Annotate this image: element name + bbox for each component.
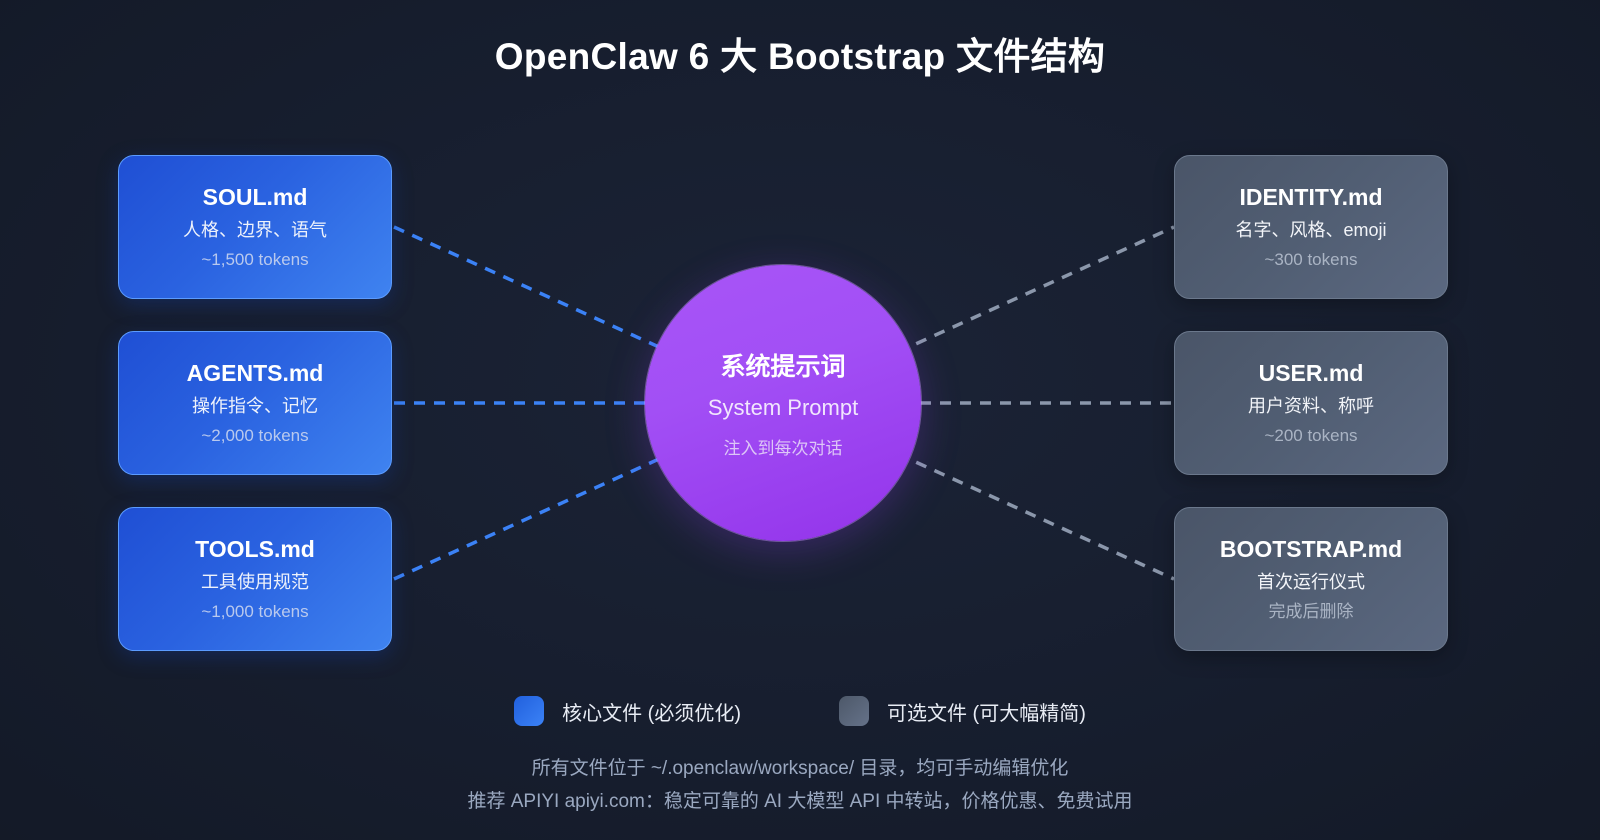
link-tools-to-hub [394, 454, 670, 579]
card-token-count: ~1,000 tokens [201, 601, 308, 623]
card-soul-md[interactable]: SOUL.md 人格、边界、语气 ~1,500 tokens [118, 155, 392, 299]
card-agents-md[interactable]: AGENTS.md 操作指令、记忆 ~2,000 tokens [118, 331, 392, 475]
legend-swatch-optional-icon [839, 696, 869, 726]
hub-note: 注入到每次对话 [724, 434, 843, 459]
link-hub-to-bootstrap [898, 454, 1174, 579]
card-token-count: ~1,500 tokens [201, 249, 308, 271]
legend-label: 核心文件 (必须优化) [562, 697, 741, 726]
card-description: 工具使用规范 [201, 571, 309, 594]
link-hub-to-identity [898, 227, 1174, 352]
card-tools-md[interactable]: TOOLS.md 工具使用规范 ~1,000 tokens [118, 507, 392, 651]
card-title: SOUL.md [203, 183, 308, 212]
footer: 所有文件位于 ~/.openclaw/workspace/ 目录，均可手动编辑优… [0, 752, 1600, 819]
card-token-count: ~2,000 tokens [201, 425, 308, 447]
card-user-md[interactable]: USER.md 用户资料、称呼 ~200 tokens [1174, 331, 1448, 475]
card-title: AGENTS.md [187, 359, 324, 388]
card-token-count: ~200 tokens [1264, 425, 1357, 447]
card-identity-md[interactable]: IDENTITY.md 名字、风格、emoji ~300 tokens [1174, 155, 1448, 299]
card-title: USER.md [1259, 359, 1364, 388]
card-title: TOOLS.md [195, 535, 315, 564]
legend-item-optional: 可选文件 (可大幅精简) [839, 696, 1086, 726]
card-description: 名字、风格、emoji [1235, 219, 1386, 242]
card-description: 用户资料、称呼 [1248, 395, 1374, 418]
system-prompt-hub[interactable]: 系统提示词 System Prompt 注入到每次对话 [645, 265, 921, 541]
hub-title: 系统提示词 [720, 347, 845, 383]
card-token-count: 完成后删除 [1269, 601, 1354, 623]
footer-path-note: 所有文件位于 ~/.openclaw/workspace/ 目录，均可手动编辑优… [0, 752, 1600, 785]
card-description: 操作指令、记忆 [192, 395, 318, 418]
card-title: IDENTITY.md [1239, 183, 1382, 212]
card-bootstrap-md[interactable]: BOOTSTRAP.md 首次运行仪式 完成后删除 [1174, 507, 1448, 651]
hub-subtitle: System Prompt [708, 395, 858, 421]
legend-item-core: 核心文件 (必须优化) [514, 696, 741, 726]
card-description: 首次运行仪式 [1257, 571, 1365, 594]
card-title: BOOTSTRAP.md [1220, 535, 1402, 564]
footer-promo-note: 推荐 APIYI apiyi.com：稳定可靠的 AI 大模型 API 中转站，… [0, 785, 1600, 818]
link-soul-to-hub [394, 227, 670, 352]
diagram-canvas: OpenClaw 6 大 Bootstrap 文件结构 SOUL.md 人格、边… [0, 0, 1600, 840]
card-token-count: ~300 tokens [1264, 249, 1357, 271]
legend-swatch-core-icon [514, 696, 544, 726]
legend-label: 可选文件 (可大幅精简) [887, 697, 1086, 726]
card-description: 人格、边界、语气 [183, 219, 327, 242]
legend: 核心文件 (必须优化) 可选文件 (可大幅精简) [0, 696, 1600, 726]
